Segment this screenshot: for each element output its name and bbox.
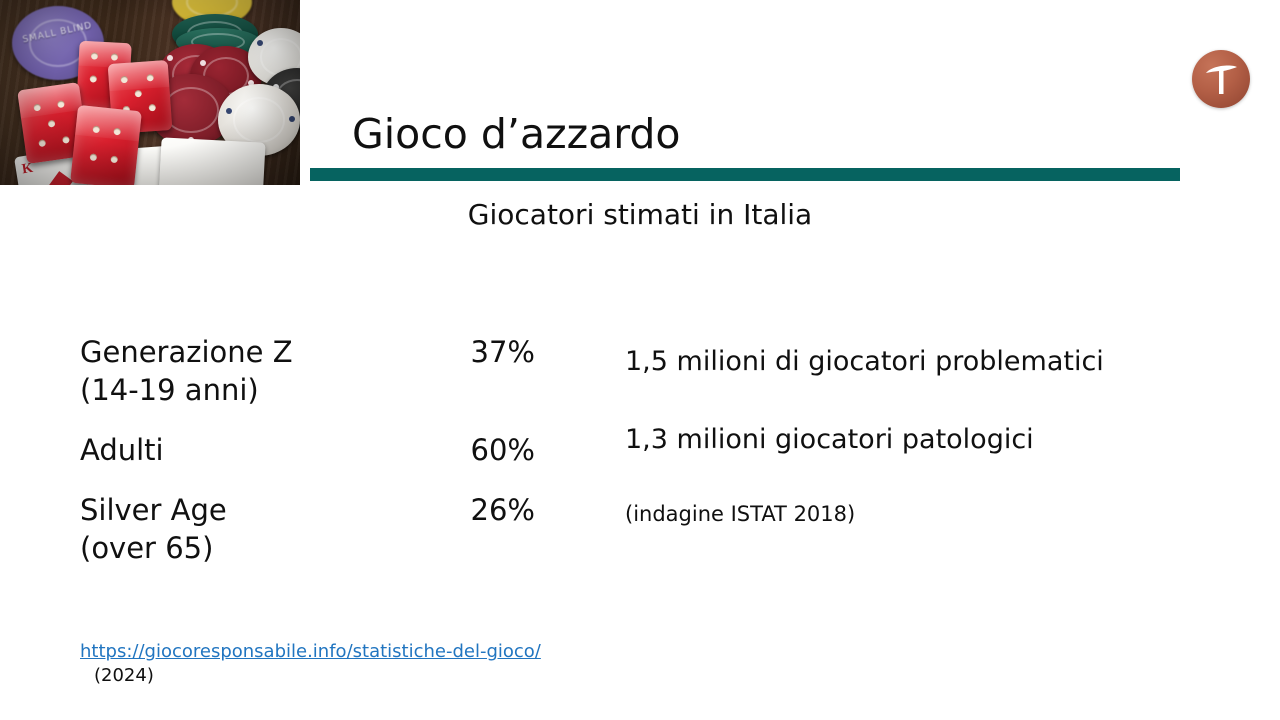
notes-block: 1,5 milioni di giocatori problematici 1,… — [625, 345, 1225, 527]
stat-value: 60% — [471, 431, 535, 469]
stat-row: Generazione Z (14-19 anni) 37% — [80, 333, 535, 409]
diamond-suit-icon — [49, 171, 73, 185]
card-corner-mark: A — [245, 184, 255, 185]
notes-source: (indagine ISTAT 2018) — [625, 501, 1225, 527]
slide-canvas: SMALL BLIND K — [0, 0, 1280, 720]
source-line: https://giocoresponsabile.info/statistic… — [80, 640, 550, 688]
letter-t-icon — [1192, 50, 1250, 108]
stat-row: Silver Age (over 65) 26% — [80, 491, 535, 567]
red-die-2 — [70, 105, 142, 185]
stat-row: Adulti 60% — [80, 431, 535, 469]
playing-card-3: A — [158, 137, 265, 185]
gambling-photo: SMALL BLIND K — [0, 0, 300, 185]
stat-label: Silver Age (over 65) — [80, 491, 535, 567]
title-accent-rule — [310, 168, 1180, 181]
stat-value: 26% — [471, 491, 535, 529]
note-line-problematic: 1,5 milioni di giocatori problematici — [625, 345, 1225, 379]
stat-label: Adulti — [80, 431, 535, 469]
card-rank-k: K — [21, 161, 34, 179]
brand-logo — [1192, 50, 1250, 108]
stats-list: Generazione Z (14-19 anni) 37% Adulti 60… — [80, 333, 535, 567]
source-link[interactable]: https://giocoresponsabile.info/statistic… — [80, 641, 541, 662]
stat-label: Generazione Z (14-19 anni) — [80, 333, 535, 409]
subtitle: Giocatori stimati in Italia — [300, 197, 980, 233]
stat-value: 37% — [471, 333, 535, 371]
note-line-pathological: 1,3 milioni giocatori patologici — [625, 423, 1225, 457]
source-year: (2024) — [94, 665, 154, 686]
page-title: Gioco d’azzardo — [352, 109, 681, 159]
